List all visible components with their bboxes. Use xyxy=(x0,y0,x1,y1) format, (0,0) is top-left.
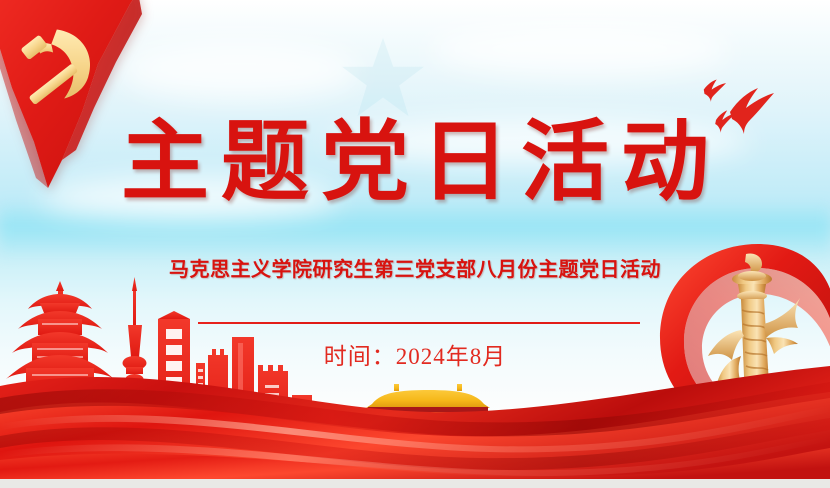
star-watermark-icon xyxy=(340,36,426,118)
page-title: 主题党日活动 xyxy=(0,120,830,208)
cloud-decoration xyxy=(430,22,730,76)
poster-canvas: 主题党日活动 马克思主义学院研究生第三党支部八月份主题党日活动 时间：2024年… xyxy=(0,0,830,488)
bottom-edge-strip xyxy=(0,479,830,488)
red-silk-wave xyxy=(0,340,830,480)
